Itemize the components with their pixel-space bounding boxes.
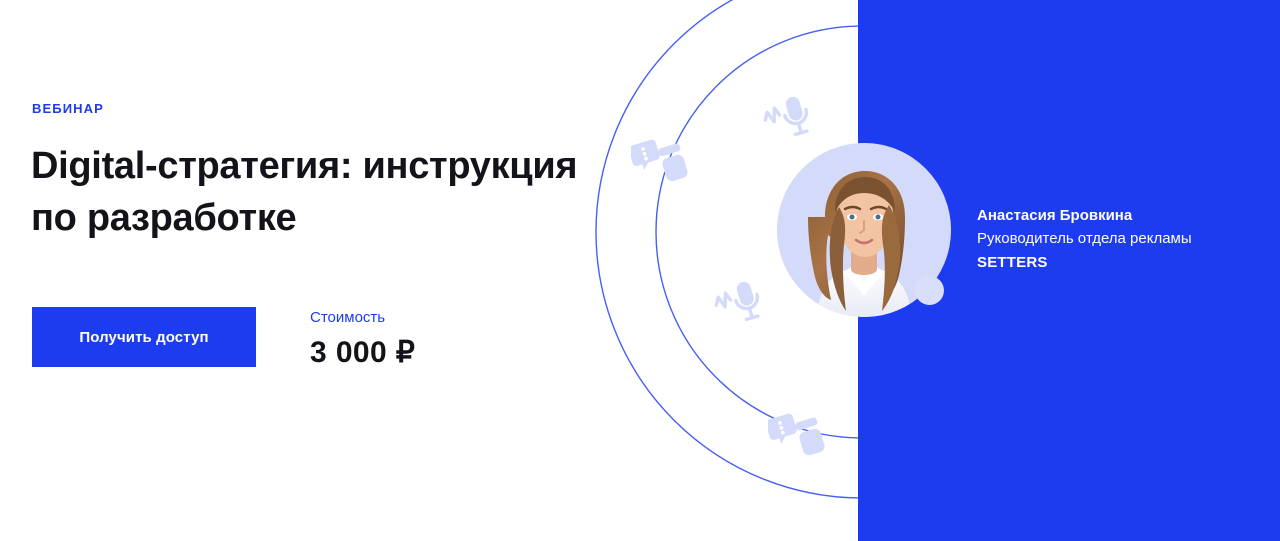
- avatar-badge-dot: [915, 276, 944, 305]
- chat-bubble-icon: [768, 405, 826, 468]
- speaker-role: Руководитель отдела рекламы: [977, 227, 1257, 250]
- price-value: 3 000 ₽: [310, 338, 415, 368]
- price-block: Стоимость 3 000 ₽: [310, 310, 415, 368]
- speaker-avatar: [777, 143, 951, 317]
- page-title: Digital-стратегия: инструкция по разрабо…: [31, 140, 591, 245]
- speaker-name: Анастасия Бровкина: [977, 204, 1257, 227]
- eyebrow-label: ВЕБИНАР: [32, 101, 104, 116]
- microphone-icon: [711, 277, 773, 336]
- get-access-button[interactable]: Получить доступ: [32, 307, 256, 367]
- webinar-hero-banner: ВЕБИНАР Digital-стратегия: инструкция по…: [0, 0, 1280, 541]
- speaker-info: Анастасия Бровкина Руководитель отдела р…: [977, 204, 1257, 274]
- speaker-company: SETTERS: [977, 251, 1257, 274]
- price-label: Стоимость: [310, 310, 415, 325]
- chat-bubble-icon: [631, 131, 689, 194]
